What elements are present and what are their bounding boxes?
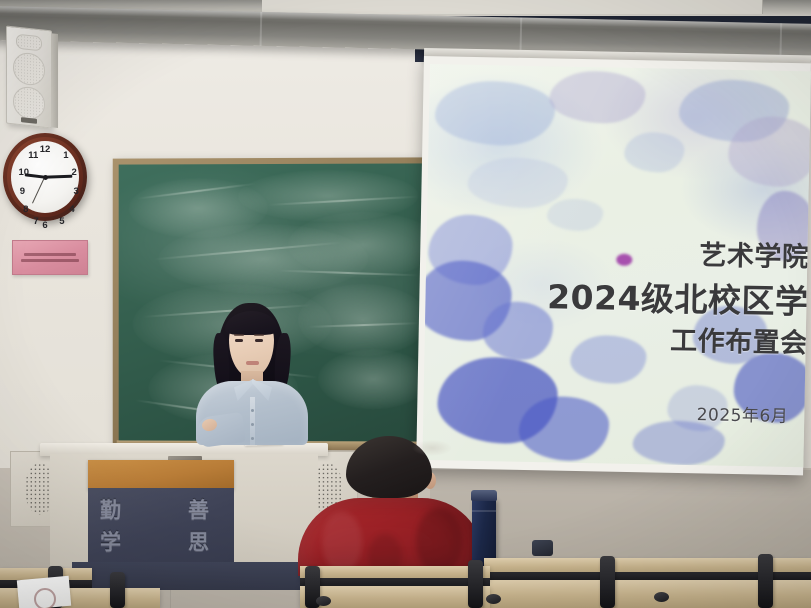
podium-char-4: 思 <box>188 526 209 556</box>
clock-numeral: 8 <box>20 205 32 215</box>
seat-post <box>468 560 483 608</box>
projection-screen: 艺术学院 2024级北校区学 工作布置会 2025年6月 <box>422 64 811 467</box>
cup <box>532 540 553 556</box>
clock-numeral: 4 <box>66 205 78 215</box>
presenter-brow-right <box>254 334 264 336</box>
podium-motto-plate: 勤 学 善 思 <box>88 488 234 564</box>
clock-numeral: 11 <box>27 151 39 161</box>
slide-date: 2025年6月 <box>697 400 789 427</box>
document-seal <box>34 588 56 608</box>
clock-numeral: 3 <box>70 187 82 197</box>
seat-knob <box>486 594 501 604</box>
clock-numeral: 7 <box>30 217 42 227</box>
pa-grille-middle <box>13 51 45 86</box>
clock-center-pin <box>43 175 48 180</box>
presenter <box>196 303 308 445</box>
slide-title-line-1: 艺术学院 <box>699 233 810 274</box>
thermos-bottle <box>472 498 496 566</box>
podium-char-1: 勤 <box>100 494 121 524</box>
podium-lower-panel <box>72 562 316 590</box>
wall-clock: 12 1 2 3 4 5 6 7 8 9 10 11 <box>3 133 87 221</box>
clock-second-hand <box>32 177 45 204</box>
attendee-hair <box>346 436 432 498</box>
seated-attendee <box>298 436 484 576</box>
podium-wood-panel <box>88 460 234 490</box>
podium-char-3: 善 <box>188 494 209 524</box>
slide-title-line-2: 2024级北校区学 <box>547 270 809 323</box>
pa-speaker-label <box>21 117 37 124</box>
clock-numeral: 5 <box>56 217 68 227</box>
wall-notice-sign <box>12 240 88 275</box>
presenter-eye-right <box>255 339 263 342</box>
clock-numeral: 9 <box>16 187 28 197</box>
podium-char-2: 学 <box>100 526 121 556</box>
slide-title-line-3: 工作布置会 <box>670 319 808 361</box>
podium-body: 勤 学 善 思 <box>50 454 318 573</box>
seat-knob <box>654 592 669 602</box>
pa-grille-bottom <box>13 85 45 120</box>
clock-numeral: 12 <box>39 145 51 155</box>
clock-face: 12 1 2 3 4 5 6 7 8 9 10 11 <box>11 141 79 213</box>
presenter-eye-left <box>235 339 243 342</box>
attendee-jacket <box>298 498 484 576</box>
seat-post <box>600 556 615 608</box>
podium: 勤 学 善 思 <box>40 443 328 573</box>
classroom-photo: 12 1 2 3 4 5 6 7 8 9 10 11 <box>0 0 811 608</box>
pa-grille-top <box>16 34 42 52</box>
pa-speaker-icon <box>6 26 52 129</box>
clock-numeral: 1 <box>60 151 72 161</box>
seat-knob <box>316 596 331 606</box>
seat-post <box>758 554 773 608</box>
presenter-brow-left <box>234 334 244 336</box>
seat-post <box>110 572 125 608</box>
presenter-mouth <box>246 361 259 365</box>
